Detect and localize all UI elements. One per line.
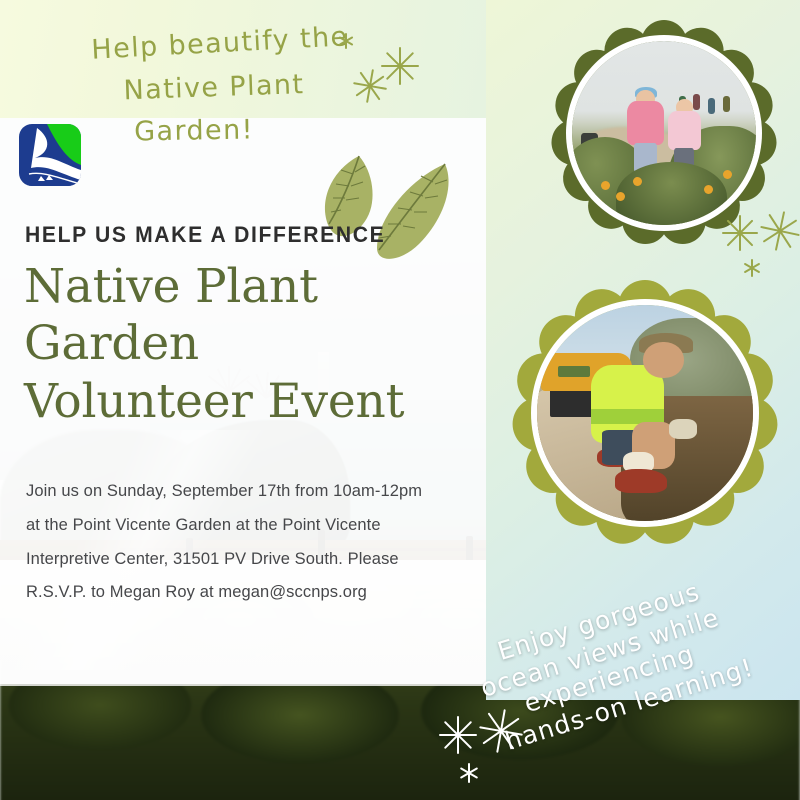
photo-boy-planting xyxy=(537,305,753,521)
page-eyebrow: HELP US MAKE A DIFFERENCE xyxy=(25,222,385,248)
flyer-canvas: Help beautify the Native Plant Garden! xyxy=(0,0,800,800)
starburst-icon xyxy=(478,708,524,754)
page-title: Native Plant Garden Volunteer Event xyxy=(24,258,474,430)
starburst-icon xyxy=(438,715,478,755)
starburst-icon xyxy=(458,762,480,784)
organization-logo xyxy=(17,118,89,190)
title-line-3: Volunteer Event xyxy=(24,373,474,430)
starburst-icon xyxy=(742,258,762,278)
leaf-icon xyxy=(377,164,449,259)
photo-boy-planting-frame xyxy=(512,280,778,546)
title-line-1: Native Plant xyxy=(24,258,474,315)
starburst-icon xyxy=(721,214,759,252)
leaf-decoration-group xyxy=(305,138,485,268)
title-line-2: Garden xyxy=(24,315,474,372)
starburst-icon xyxy=(759,210,800,252)
photo-kids-planting-frame xyxy=(551,20,777,246)
script-headline-top: Help beautify the Native Plant Garden! xyxy=(55,22,385,153)
event-details-text: Join us on Sunday, September 17th from 1… xyxy=(26,475,426,610)
starburst-icon xyxy=(337,32,355,50)
starburst-icon xyxy=(352,68,388,104)
photo-kids-planting xyxy=(572,41,756,225)
script-headline-bottom: Enjoy gorgeous ocean views while experie… xyxy=(460,585,800,800)
